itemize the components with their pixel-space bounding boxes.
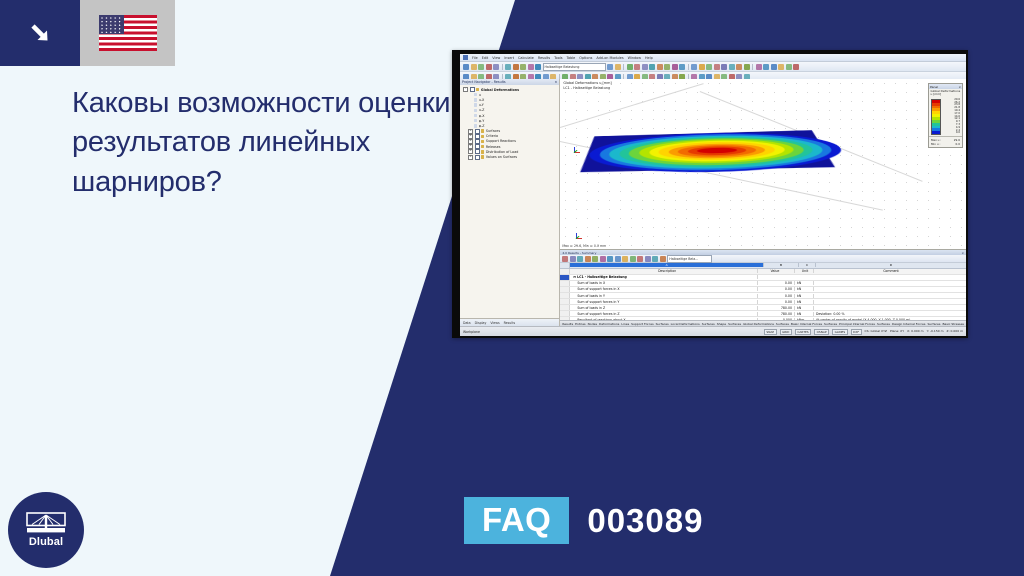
load-icon (481, 150, 484, 153)
status-chip[interactable]: SNAP (764, 329, 777, 335)
tree-item-label: Releases (486, 145, 501, 149)
grid-header-cell: Description (570, 269, 758, 273)
viewport-caption-line2: LC1 - Halbseitige Belastung (563, 86, 611, 91)
deformation-icon (474, 98, 477, 101)
results-grid[interactable]: ABCDDescriptionValueUnitComment⊟ LC1 - H… (560, 263, 966, 320)
table-toolbar-button-icon[interactable] (615, 256, 621, 262)
grid-column-letter[interactable]: D (816, 263, 966, 267)
coordinate-axis-icon (574, 143, 584, 153)
faq-number: 003089 (587, 502, 703, 540)
toolbar-button-icon[interactable] (657, 64, 663, 70)
toolbar-button-icon[interactable] (744, 64, 750, 70)
menu-item-tools[interactable]: Tools (554, 56, 562, 60)
navigator-tree[interactable]: -Global Deformationsuu-Xu-Yu-Zφ-Xφ-Yφ-Z+… (460, 85, 559, 318)
status-readout: Plane: XY (890, 329, 904, 335)
coordinate-axis-icon (576, 229, 586, 239)
grid-row-selector[interactable] (560, 299, 570, 304)
toolbar-button-icon[interactable] (486, 64, 492, 70)
navigator-tab-data[interactable]: Data (463, 321, 471, 325)
toolbar-button-icon[interactable] (520, 64, 526, 70)
grid-header-cell: Comment (814, 269, 966, 273)
release-icon (481, 145, 484, 148)
grid-column-letter[interactable]: C (799, 263, 816, 267)
table-toolbar-button-icon[interactable] (592, 256, 598, 262)
results-tab[interactable]: Surfaces (702, 322, 715, 326)
menu-bar[interactable]: FileEditViewInsertCalculateResultsToolsT… (460, 54, 966, 62)
results-tab[interactable]: Surfaces (728, 322, 741, 326)
results-tab[interactable]: Global Deformations (743, 322, 774, 326)
table-toolbar-button-icon[interactable] (607, 256, 613, 262)
status-readout: Y: -0.150 m (927, 329, 944, 335)
cell-value: 780.00 (758, 312, 795, 316)
arrow-down-right-icon (0, 0, 80, 66)
grid-header-cell: Unit (795, 269, 814, 273)
toolbar-button-icon[interactable] (505, 64, 511, 70)
color-legend-panel: Panel × Global Deformations u [mm] 29.62… (928, 83, 963, 148)
tree-item-label: φ-Z (479, 124, 485, 128)
grid-row-selector[interactable] (560, 305, 570, 310)
results-tab[interactable]: Nodes (588, 322, 597, 326)
cell-description: Sum of support forces in Y (570, 300, 758, 304)
cell-value: 0.00 (758, 281, 795, 285)
results-tab[interactable]: Surfaces (776, 322, 789, 326)
status-readout: Z: 0.000 m (947, 329, 963, 335)
toolbar-button-icon[interactable] (721, 64, 727, 70)
toolbar-button-icon[interactable] (478, 64, 484, 70)
toolbar-button-icon[interactable] (615, 64, 621, 70)
cell-value: 780.00 (758, 306, 795, 310)
toolbar-button-icon[interactable] (691, 64, 697, 70)
cell-comment: Deviation: 0.00 % (814, 312, 966, 316)
tree-checkbox[interactable] (470, 87, 475, 92)
cell-description: Sum of support forces in X (570, 287, 758, 291)
status-left-text: Workplane (463, 330, 480, 334)
app-icon (463, 55, 468, 60)
close-icon[interactable]: × (958, 85, 961, 89)
table-toolbar-button-icon[interactable] (600, 256, 606, 262)
toolbar-button-icon[interactable] (528, 64, 534, 70)
corner-badges (0, 0, 175, 66)
grid-header-cell: Value (758, 269, 795, 273)
menu-item-options[interactable]: Options (579, 56, 592, 60)
menu-item-results[interactable]: Results (538, 56, 550, 60)
toolbar-button-icon[interactable] (778, 64, 784, 70)
grid-row-selector[interactable] (560, 311, 570, 316)
results-tab[interactable]: Support Forces (631, 322, 654, 326)
results-table-toolbar[interactable]: Halbseitige Bela... (560, 255, 966, 263)
app-screenshot: FileEditViewInsertCalculateResultsToolsT… (452, 50, 968, 338)
toolbar-button-icon[interactable] (513, 64, 519, 70)
toolbar-button-icon[interactable] (786, 64, 792, 70)
tree-item-label: φ-Y (479, 119, 484, 123)
grid-row-selector[interactable] (560, 281, 570, 286)
cell-value: 0.00 (758, 294, 795, 298)
tree-item-label: Global Deformations (481, 88, 519, 92)
tree-item-label: φ-X (479, 114, 485, 118)
tree-item-label: Criteria (486, 134, 498, 138)
criteria-icon (481, 135, 484, 138)
navigator-tab-results[interactable]: Results (504, 321, 516, 325)
status-readout: X: 0.000 m (907, 329, 923, 335)
toolbar-button-icon[interactable] (679, 64, 685, 70)
folder-results-icon (476, 88, 479, 91)
results-tab[interactable]: Shape (717, 322, 726, 326)
table-toolbar-button-icon[interactable] (645, 256, 651, 262)
status-chips[interactable]: SNAPGRIDCARTESOSNAPGLINESDXFCS: Global X… (764, 329, 963, 335)
menu-item-table[interactable]: Table (567, 56, 576, 60)
results-tab[interactable]: Basic Internal Forces (791, 322, 822, 326)
values-icon (481, 155, 484, 158)
table-toolbar-button-icon[interactable] (562, 256, 568, 262)
grid-group-label: ⊟ LC1 - Halbseitige Belastung (570, 275, 758, 279)
table-toolbar-button-icon[interactable] (577, 256, 583, 262)
grid-column-letter[interactable]: B (764, 263, 799, 267)
legend-min-value: 0.0 (956, 142, 960, 146)
toolbar-button-icon[interactable] (607, 64, 613, 70)
menu-item-window[interactable]: Window (628, 56, 641, 60)
surface-icon (481, 129, 484, 132)
table-toolbar-button-icon[interactable] (660, 256, 666, 262)
toolbar-button-icon[interactable] (672, 64, 678, 70)
toolbar-button-icon[interactable] (649, 64, 655, 70)
cell-description: Sum of loads in Y (570, 294, 758, 298)
page-title: Каковы возможности оценки результатов ли… (72, 84, 452, 202)
table-toolbar-button-icon[interactable] (630, 256, 636, 262)
status-chip[interactable]: GLINES (832, 329, 848, 335)
toolbar-button-icon[interactable] (493, 64, 499, 70)
navigator-tab-display[interactable]: Display (475, 321, 487, 325)
tree-checkbox[interactable] (475, 155, 480, 160)
cell-description: Sum of loads in X (570, 281, 758, 285)
table-toolbar-button-icon[interactable] (570, 256, 576, 262)
cell-unit: kN (795, 287, 814, 291)
legend-tick-labels: 29.626.223.821.819.417.014.612.19.77.34.… (943, 99, 961, 135)
tree-item-label: u (479, 93, 481, 97)
toolbar-button-icon[interactable] (699, 64, 705, 70)
faq-badge: FAQ (464, 497, 569, 544)
logo-wordmark: Dlubal (29, 536, 63, 548)
close-icon[interactable]: × (961, 251, 964, 255)
toolbar-button-icon[interactable] (714, 64, 720, 70)
deformation-icon (474, 119, 477, 122)
slide-canvas: Каковы возможности оценки результатов ли… (0, 0, 1024, 576)
menu-item-help[interactable]: Help (645, 56, 653, 60)
tree-item-label: Surfaces (486, 129, 500, 133)
tree-item-label: u-Y (479, 103, 484, 107)
toolbar-button-icon[interactable] (706, 64, 712, 70)
results-tab[interactable]: Surfaces (656, 322, 669, 326)
toolbar-button-icon[interactable] (627, 64, 633, 70)
menu-item-view[interactable]: View (492, 56, 500, 60)
tree-item-label: u-Z (479, 108, 485, 112)
toolbar-separator (502, 64, 503, 70)
toolbar-button-icon[interactable] (664, 64, 670, 70)
deformation-icon (474, 103, 477, 106)
status-chip[interactable]: OSNAP (814, 329, 829, 335)
status-chip[interactable]: GRID (780, 329, 792, 335)
legend-tick: 0.0 (943, 132, 961, 135)
menu-item-file[interactable]: File (472, 56, 478, 60)
cell-description: Sum of loads in Z (570, 306, 758, 310)
toolbar-button-icon[interactable] (793, 64, 799, 70)
navigator-footer-tabs[interactable]: DataDisplayViewsResults (460, 318, 559, 326)
results-tab[interactable]: Surfaces (824, 322, 837, 326)
results-tab[interactable]: Deformations (599, 322, 619, 326)
menu-item-calculate[interactable]: Calculate (518, 56, 534, 60)
results-tab[interactable]: Surfaces (877, 322, 890, 326)
work-area: Global Deformations u,[mm] LC1 - Halbsei… (560, 79, 966, 326)
tree-item[interactable]: +Values on Surfaces (463, 154, 559, 159)
cell-unit: kN (795, 294, 814, 298)
cell-unit: kN (795, 300, 814, 304)
project-navigator: Project Navigator - Results × -Global De… (460, 79, 560, 326)
toolbar-separator (688, 64, 689, 70)
menu-item-insert[interactable]: Insert (504, 56, 514, 60)
toolbar-button-icon[interactable] (535, 64, 541, 70)
results-tab[interactable]: Surfaces (927, 322, 940, 326)
tree-expander-icon[interactable]: - (463, 87, 468, 92)
toolbar-button-icon[interactable] (642, 64, 648, 70)
table-load-case-combo[interactable]: Halbseitige Bela... (667, 255, 712, 263)
tree-item-label: Support Reactions (486, 139, 516, 143)
tree-expander-icon[interactable]: + (468, 155, 473, 160)
toolbar-button-icon[interactable] (463, 64, 469, 70)
status-readout: CS: Global XYZ (865, 329, 887, 335)
navigator-tab-views[interactable]: Views (490, 321, 499, 325)
toolbar-button-icon[interactable] (471, 64, 477, 70)
toolbar-button-icon[interactable] (729, 64, 735, 70)
results-tab[interactable]: Design Internal Forces (892, 322, 926, 326)
cell-unit: kN (795, 306, 814, 310)
deformation-icon (474, 114, 477, 117)
toolbar-separator (623, 64, 624, 70)
cell-value: 0.00 (758, 287, 795, 291)
legend-title: Panel (930, 85, 938, 89)
toolbar-button-icon[interactable] (771, 64, 777, 70)
deformation-contour-plot (567, 129, 848, 176)
cell-unit: kN (795, 312, 814, 316)
legend-minmax: Max u :29.6 Min u :0.0 (929, 136, 962, 147)
support-icon (481, 140, 484, 143)
results-tab[interactable]: Basic Stresses (942, 322, 964, 326)
faq-footer: FAQ 003089 (464, 497, 703, 544)
grid-column-letter[interactable]: A (570, 263, 764, 267)
tree-item-label: Values on Surfaces (486, 155, 517, 159)
menu-item-edit[interactable]: Edit (482, 56, 489, 60)
table-toolbar-button-icon[interactable] (652, 256, 658, 262)
results-tab[interactable]: Principal Internal Forces (839, 322, 875, 326)
table-toolbar-button-icon[interactable] (585, 256, 591, 262)
table-toolbar-button-icon[interactable] (622, 256, 628, 262)
results-table-panel: 4.0 Results - Summary × Halbseitige Bela… (560, 249, 966, 326)
cell-description: Sum of support forces in Z (570, 312, 758, 316)
3d-viewport[interactable]: Global Deformations u,[mm] LC1 - Halbsei… (560, 79, 966, 249)
status-chip[interactable]: DXF (851, 329, 862, 335)
truss-bridge-icon (26, 512, 66, 534)
toolbar-button-icon[interactable] (763, 64, 769, 70)
status-bar: Workplane SNAPGRIDCARTESOSNAPGLINESDXFCS… (460, 326, 966, 336)
cell-value: 0.00 (758, 300, 795, 304)
results-tab[interactable]: Lines (621, 322, 629, 326)
cell-unit: kN (795, 281, 814, 285)
legend-subtitle: Global Deformations u [mm] (929, 89, 962, 97)
results-tab[interactable]: Results (562, 322, 573, 326)
status-chip[interactable]: CARTES (795, 329, 811, 335)
toolbar-row-1[interactable]: Halbseitige Belastung (460, 62, 966, 72)
grid-row-selector[interactable] (560, 293, 570, 298)
legend-color-ramp (931, 99, 941, 135)
tree-item-label: u-X (479, 98, 484, 102)
toolbar-separator (752, 64, 753, 70)
grid-column-letter[interactable] (560, 263, 570, 268)
deformation-icon (474, 109, 477, 112)
table-toolbar-button-icon[interactable] (637, 256, 643, 262)
grid-header-cell (560, 269, 570, 274)
toolbar-button-icon[interactable] (756, 64, 762, 70)
legend-min-label: Min u : (931, 142, 940, 146)
results-tab[interactable]: Local Deformations (671, 322, 700, 326)
tree-item-label: Distribution of Load (486, 150, 518, 154)
deformation-icon (474, 124, 477, 127)
results-table-title: 4.0 Results - Summary (562, 251, 596, 255)
toolbar-button-icon[interactable] (736, 64, 742, 70)
load-case-combo[interactable]: Halbseitige Belastung (543, 63, 606, 71)
grid-row-selector[interactable] (560, 275, 570, 280)
toolbar-button-icon[interactable] (634, 64, 640, 70)
viewport-caption-line1: Global Deformations u,[mm] (563, 81, 611, 86)
deformation-icon (474, 93, 477, 96)
grid-row-selector[interactable] (560, 287, 570, 292)
viewport-status-text: Max u: 29.6, Min u: 0.0 mm (562, 244, 606, 248)
us-flag-icon (80, 0, 175, 66)
viewport-caption: Global Deformations u,[mm] LC1 - Halbsei… (563, 81, 611, 90)
menu-item-add-on-modules[interactable]: Add-on Modules (596, 56, 623, 60)
results-tab[interactable]: Entries (575, 322, 585, 326)
dlubal-logo: Dlubal (8, 492, 84, 568)
legend-color-band (932, 131, 940, 134)
